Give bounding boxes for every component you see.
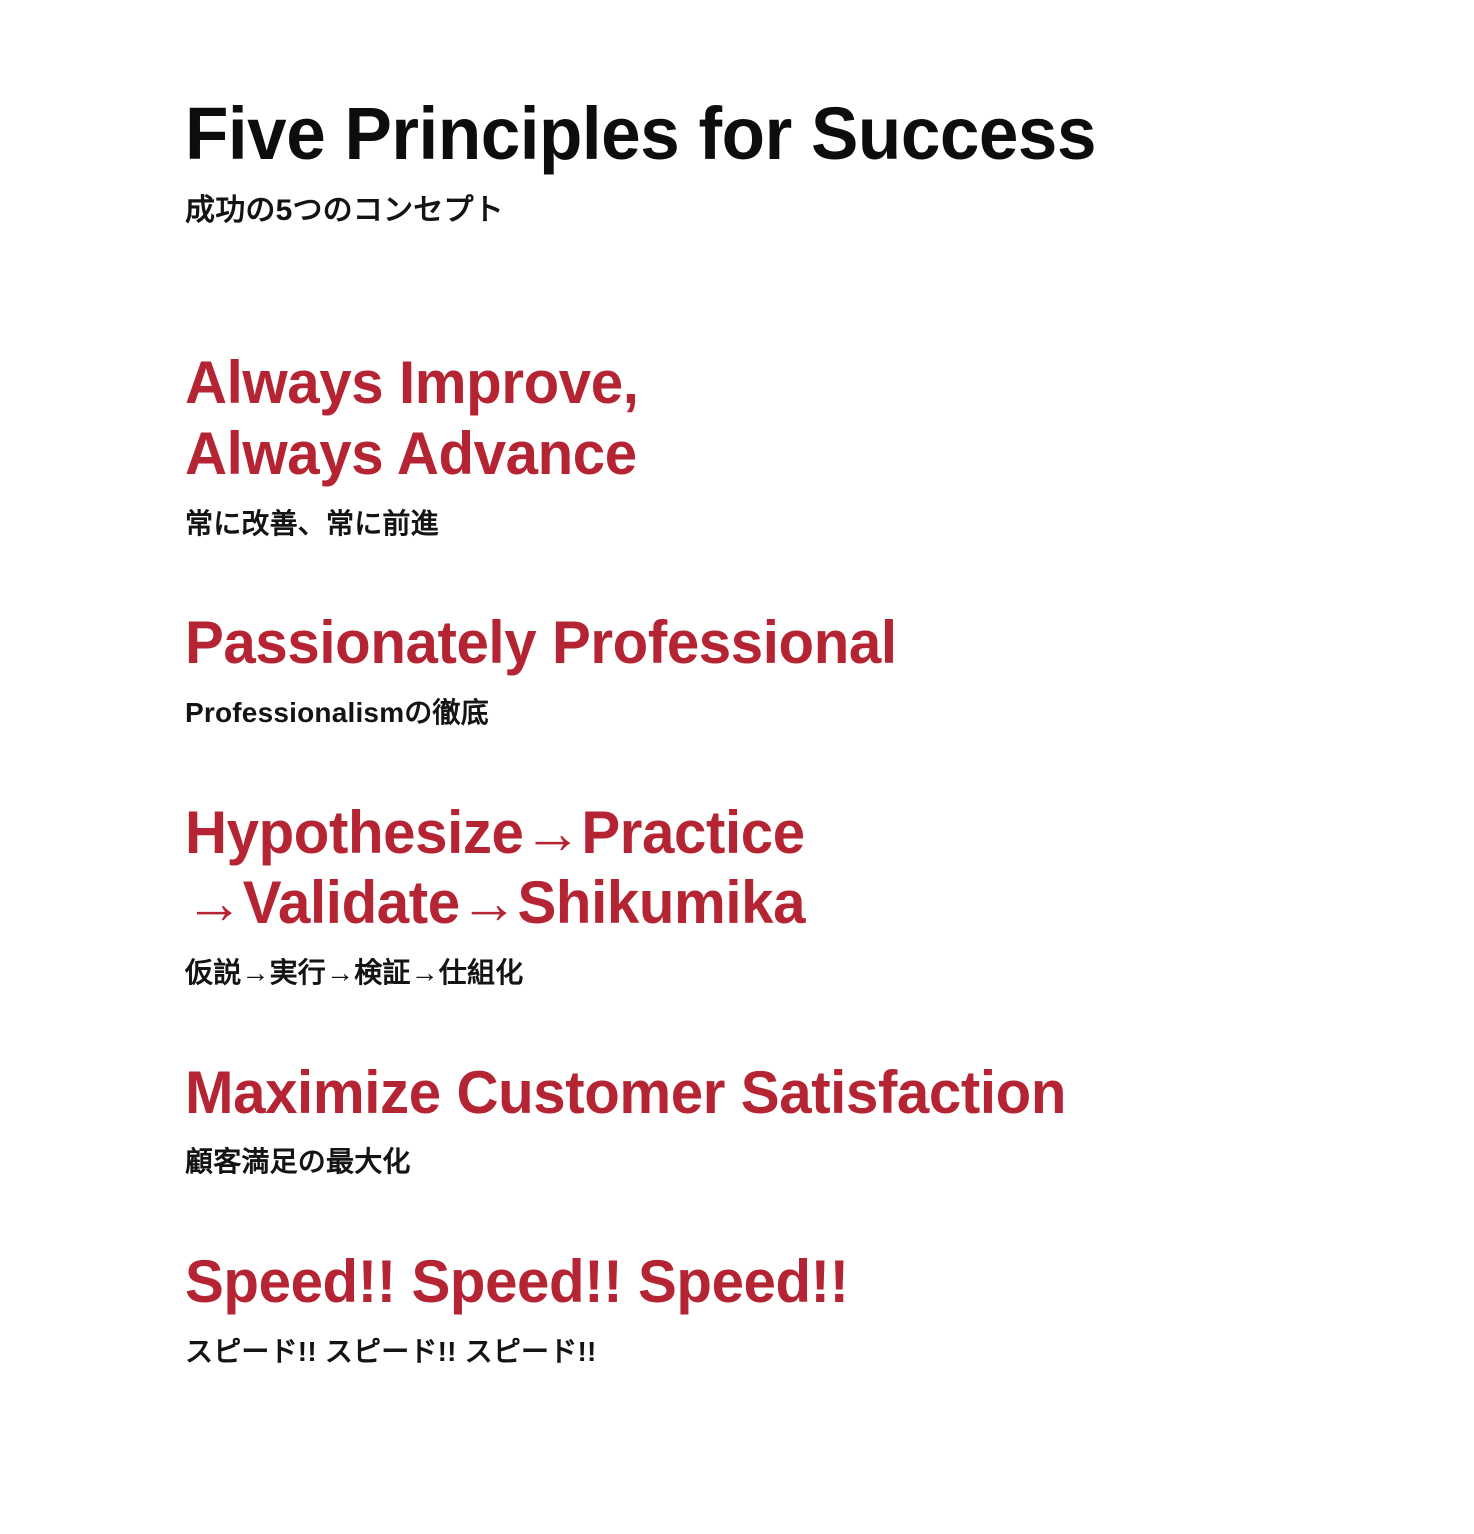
- principle-heading-en: Always Improve, Always Advance: [185, 348, 1319, 490]
- slide-header: Five Principles for Success 成功の5つのコンセプト: [185, 0, 1354, 230]
- list-item: Hypothesize→Practice →Validate→Shikumika…: [185, 798, 1354, 992]
- list-item: Always Improve, Always Advance 常に改善、常に前進: [185, 348, 1354, 542]
- principle-heading-ja: 仮説→実行→検証→仕組化: [185, 955, 1354, 991]
- page-subtitle: 成功の5つのコンセプト: [185, 191, 1354, 230]
- principle-heading-ja: Professionalismの徹底: [185, 695, 1354, 731]
- list-item: Passionately Professional Professionalis…: [185, 608, 1354, 731]
- list-item: Speed!! Speed!! Speed!! スピード!! スピード!! スピ…: [185, 1247, 1354, 1370]
- principle-heading-en: Speed!! Speed!! Speed!!: [185, 1247, 1319, 1318]
- principle-heading-ja: 常に改善、常に前進: [185, 506, 1354, 542]
- principle-heading-en: Maximize Customer Satisfaction: [185, 1058, 1319, 1129]
- slide-root: Five Principles for Success 成功の5つのコンセプト …: [0, 0, 1474, 1534]
- principle-heading-en: Passionately Professional: [185, 608, 1319, 679]
- principle-heading-en: Hypothesize→Practice →Validate→Shikumika: [185, 798, 1319, 940]
- principle-heading-ja: スピード!! スピード!! スピード!!: [185, 1334, 1354, 1370]
- page-title: Five Principles for Success: [185, 96, 1307, 171]
- list-item: Maximize Customer Satisfaction 顧客満足の最大化: [185, 1058, 1354, 1181]
- principle-heading-ja: 顧客満足の最大化: [185, 1144, 1354, 1180]
- principles-list: Always Improve, Always Advance 常に改善、常に前進…: [185, 348, 1354, 1370]
